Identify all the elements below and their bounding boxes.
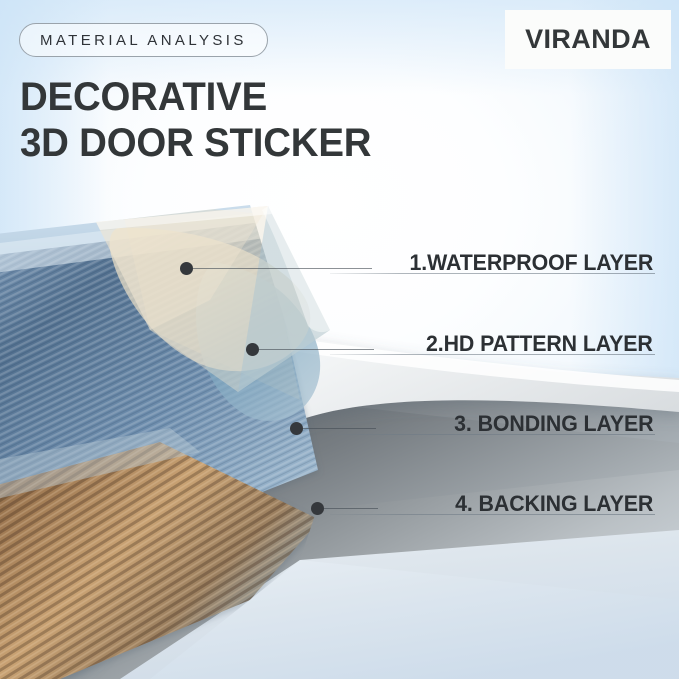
- layer-label-4-text: 4. BACKING LAYER: [455, 491, 653, 520]
- brand-name: VIRANDA: [525, 24, 651, 55]
- callout-dot-4: [311, 502, 324, 515]
- layer-underline-3: [330, 434, 655, 435]
- product-infographic: MATERIAL ANALYSIS DECORATIVE 3D DOOR STI…: [0, 0, 679, 679]
- page-title-line2: 3D DOOR STICKER: [20, 123, 371, 163]
- badge-label: MATERIAL ANALYSIS: [40, 32, 247, 49]
- callout-dot-2: [246, 343, 259, 356]
- leader-line-3: [303, 428, 376, 429]
- layer-underline-4: [330, 514, 655, 515]
- layer-underline-1: [330, 273, 655, 274]
- material-analysis-badge: MATERIAL ANALYSIS: [19, 23, 268, 57]
- brand-logo: VIRANDA: [505, 10, 671, 69]
- layer-underline-2: [330, 354, 655, 355]
- callout-dot-3: [290, 422, 303, 435]
- leader-line-1: [193, 268, 372, 269]
- page-title-line1: DECORATIVE: [20, 77, 267, 117]
- leader-line-2: [259, 349, 374, 350]
- layer-label-1-text: 1.WATERPROOF LAYER: [409, 250, 653, 279]
- layer-label-2-text: 2.HD PATTERN LAYER: [426, 331, 653, 360]
- leader-line-4: [324, 508, 378, 509]
- callout-dot-1: [180, 262, 193, 275]
- layer-label-3-text: 3. BONDING LAYER: [454, 411, 653, 440]
